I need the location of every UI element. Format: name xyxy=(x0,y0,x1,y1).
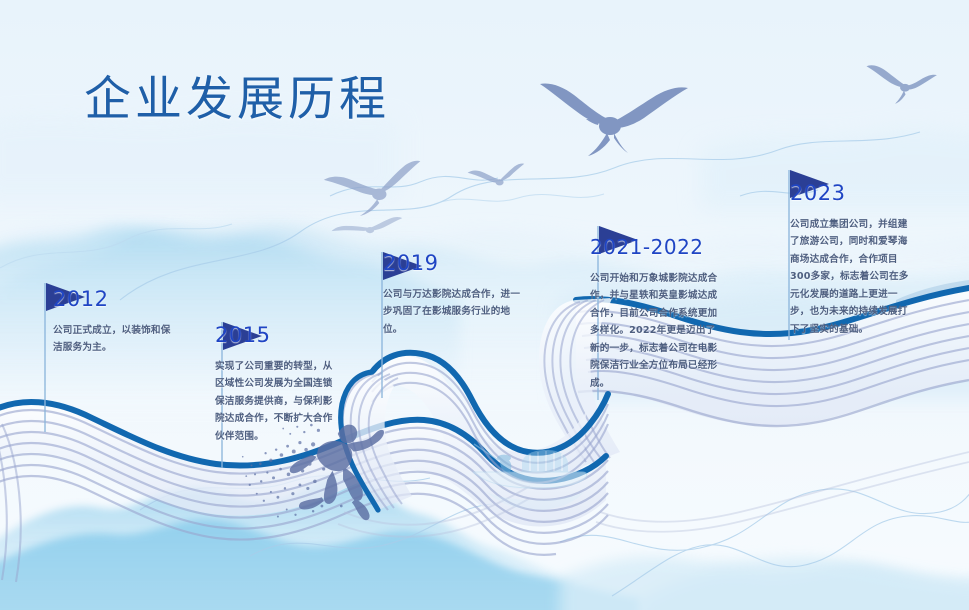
milestone-2023: 2023 公司成立集团公司，并组建了旅游公司，同时和爱琴海商场达成合作，合作项目… xyxy=(790,181,910,338)
poster-canvas: 企业发展历程 2012 公司正式成立，以装饰和保洁服务为主。 2015 实现了公… xyxy=(0,0,969,610)
milestone-desc-2021-2022: 公司开始和万象城影院达成合作，并与星轶和英皇影城达成合作，目前公司合作系统更加多… xyxy=(590,270,722,392)
milestone-year-2021-2022: 2021-2022 xyxy=(590,235,722,259)
milestone-year-2015: 2015 xyxy=(215,323,339,347)
milestone-year-2012: 2012 xyxy=(53,287,179,311)
milestone-2021-2022: 2021-2022 公司开始和万象城影院达成合作，并与星轶和英皇影城达成合作，目… xyxy=(590,235,722,392)
milestone-desc-2012: 公司正式成立，以装饰和保洁服务为主。 xyxy=(53,322,179,357)
milestone-2019: 2019 公司与万达影院达成合作，进一步巩固了在影城服务行业的地位。 xyxy=(383,251,527,338)
milestone-desc-2023: 公司成立集团公司，并组建了旅游公司，同时和爱琴海商场达成合作，合作项目300多家… xyxy=(790,216,910,338)
milestone-desc-2019: 公司与万达影院达成合作，进一步巩固了在影城服务行业的地位。 xyxy=(383,286,527,338)
page-title: 企业发展历程 xyxy=(84,60,390,129)
milestone-2015: 2015 实现了公司重要的转型，从区域性公司发展为全国连锁保洁服务提供商，与保利… xyxy=(215,323,339,445)
milestone-desc-2015: 实现了公司重要的转型，从区域性公司发展为全国连锁保洁服务提供商，与保利影院达成合… xyxy=(215,358,339,445)
milestone-year-2023: 2023 xyxy=(790,181,910,205)
milestone-2012: 2012 公司正式成立，以装饰和保洁服务为主。 xyxy=(53,287,179,357)
milestone-year-2019: 2019 xyxy=(383,251,527,275)
